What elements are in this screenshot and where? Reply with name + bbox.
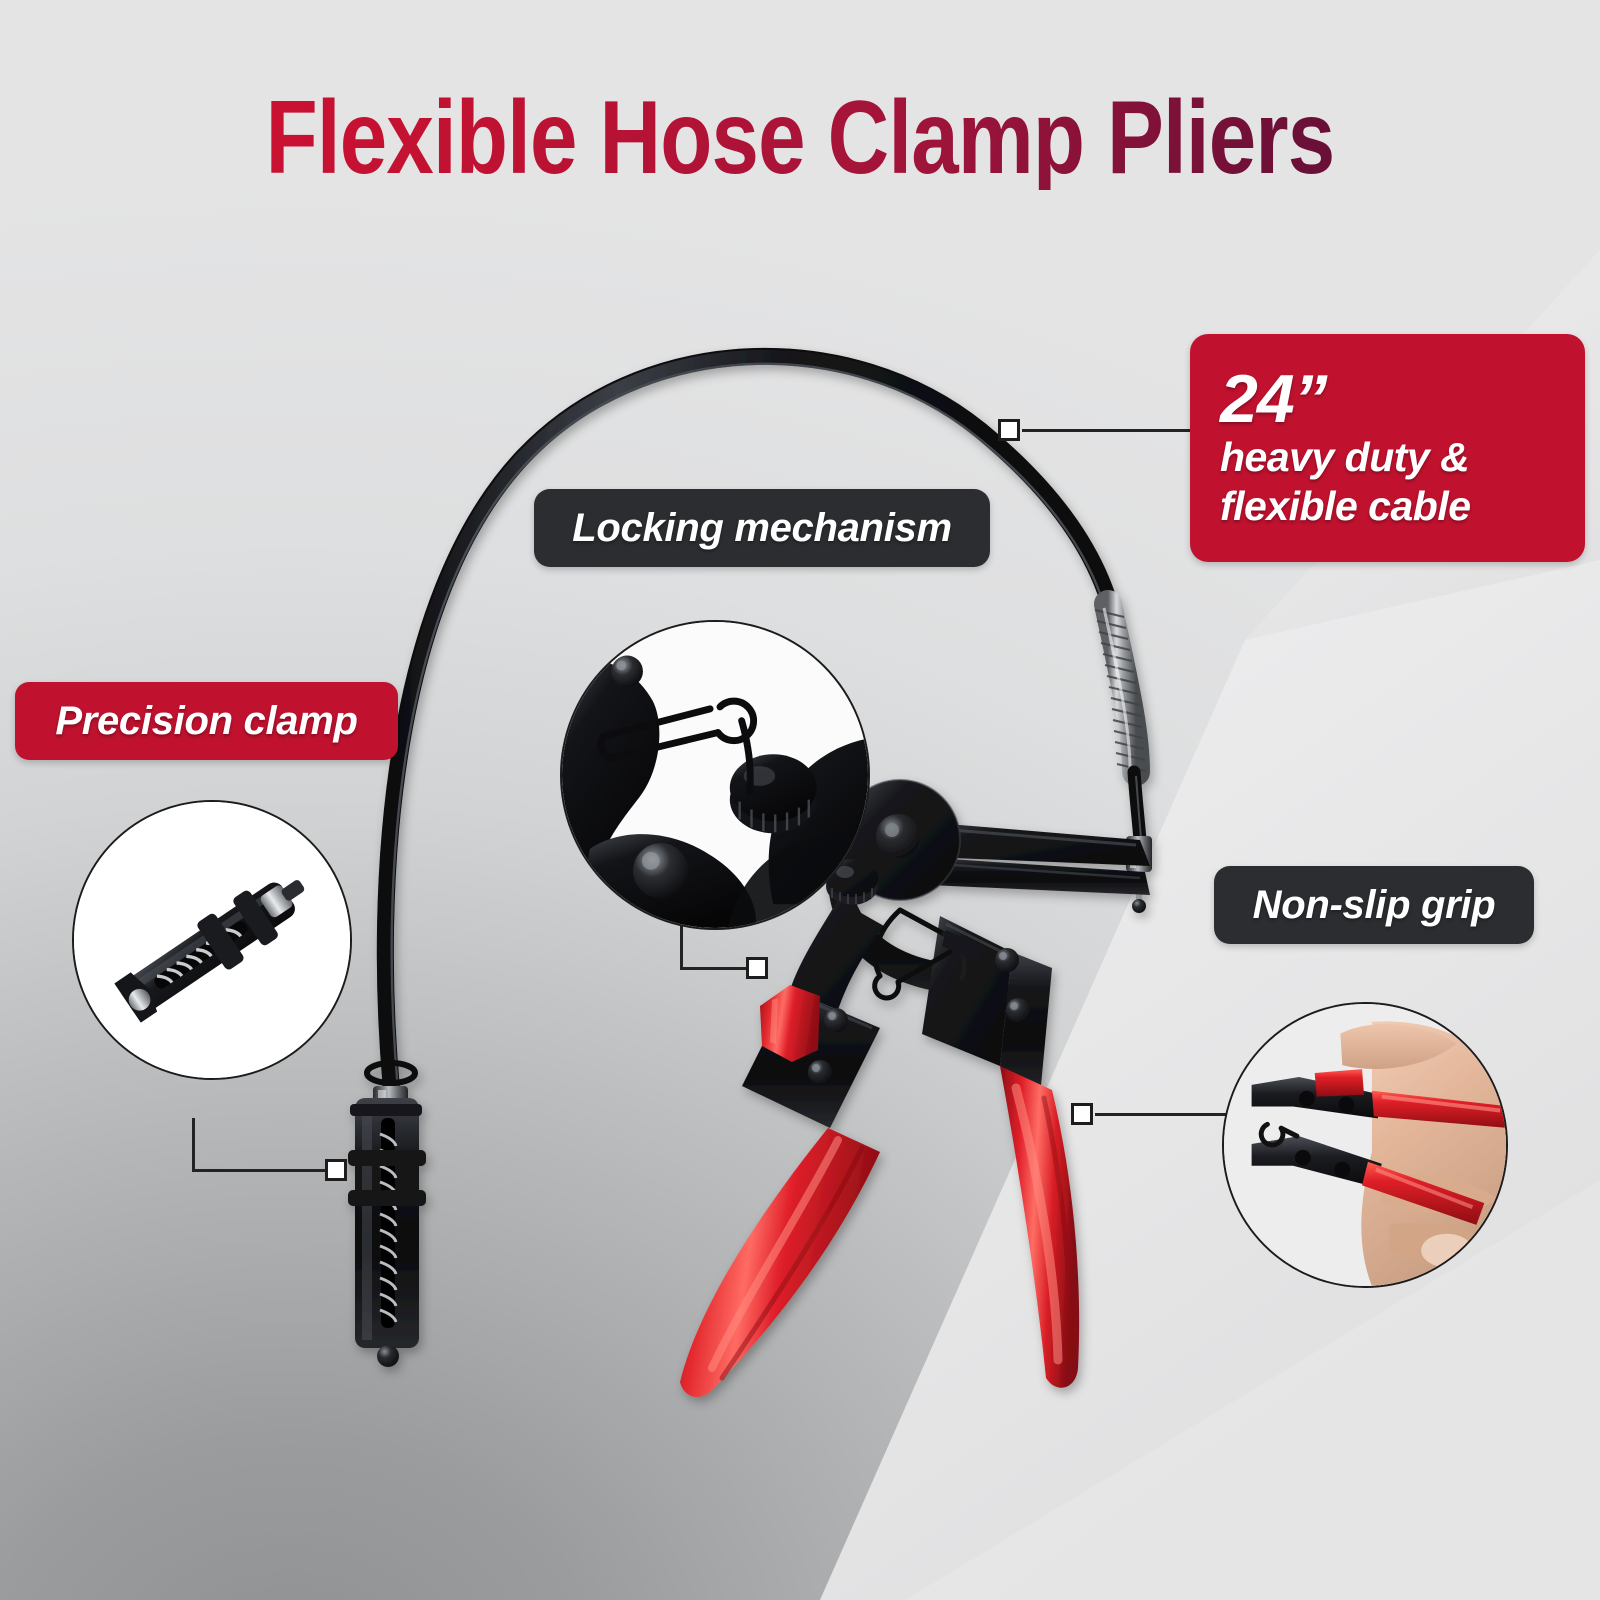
lead-line-spec-24 — [1022, 429, 1190, 432]
callout-marker-precision — [325, 1159, 347, 1181]
page-title: Flexible Hose Clamp Pliers — [144, 86, 1456, 190]
badge-spec-24-line2: flexible cable — [1220, 483, 1471, 530]
badge-spec-24-headline: 24” — [1220, 366, 1327, 433]
inset-non-slip-grip — [1222, 1002, 1508, 1288]
inset-locking-mechanism — [560, 620, 870, 930]
callout-marker-locking — [746, 957, 768, 979]
infographic-canvas: Flexible Hose Clamp Pliers — [0, 0, 1600, 1600]
lead-line-locking-horizontal — [680, 967, 746, 970]
badge-locking-mechanism: Locking mechanism — [534, 489, 990, 567]
badge-spec-24-line1: heavy duty & — [1220, 434, 1469, 481]
lead-line-precision-vertical — [192, 1118, 195, 1172]
badge-non-slip-grip: Non-slip grip — [1214, 866, 1534, 944]
lead-line-grip — [1095, 1113, 1231, 1116]
badge-spec-24: 24” heavy duty & flexible cable — [1190, 334, 1585, 562]
callout-marker-grip — [1071, 1103, 1093, 1125]
badge-precision-clamp: Precision clamp — [15, 682, 398, 760]
inset-precision-clamp — [72, 800, 352, 1080]
callout-marker-spec-24 — [998, 419, 1020, 441]
lead-line-precision-horizontal — [192, 1169, 325, 1172]
